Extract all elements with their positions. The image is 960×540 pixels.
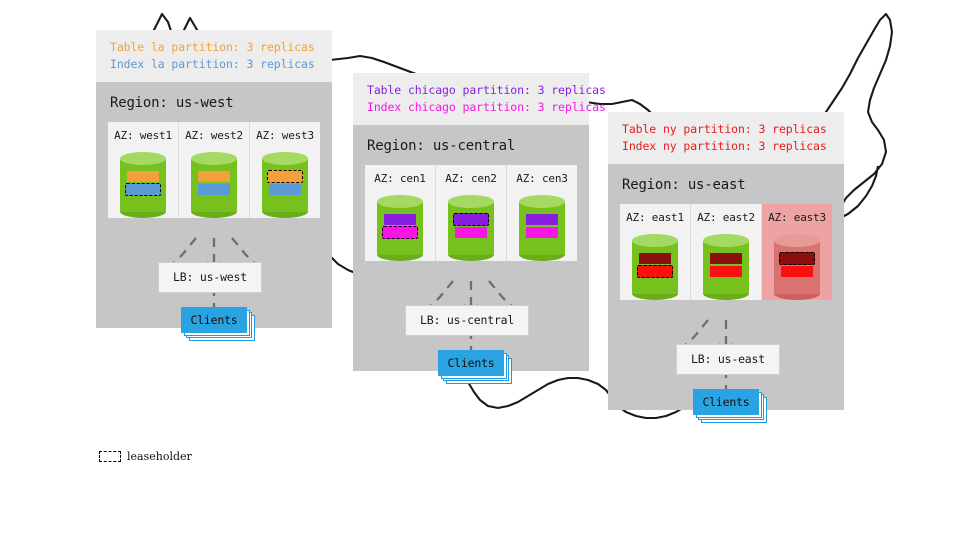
node-cylinder-east1[interactable] (632, 234, 678, 300)
replica-band-index (198, 184, 230, 195)
load-balancer-us-west[interactable]: LB: us-west (158, 262, 262, 293)
az-row-us-central: AZ: cen1 AZ: cen2 (365, 165, 577, 261)
replica-band-table (127, 171, 159, 182)
legend: leaseholder (99, 450, 192, 463)
replica-band-table (198, 171, 230, 182)
region-panel-us-east: Table ny partition: 3 replicas Index ny … (608, 112, 844, 410)
replica-band-index-leaseholder (125, 183, 161, 196)
node-cylinder-west3[interactable] (262, 152, 308, 218)
node-cylinder-cen3[interactable] (519, 195, 565, 261)
replica-band-index-leaseholder (637, 265, 673, 278)
az-cell-west2[interactable]: AZ: west2 (179, 122, 250, 218)
region-title-us-central: Region: us-central (353, 125, 589, 165)
region-panel-us-west: Table la partition: 3 replicas Index la … (96, 30, 332, 328)
load-balancer-us-east[interactable]: LB: us-east (676, 344, 780, 375)
az-row-us-west: AZ: west1 AZ: west2 (108, 122, 320, 218)
partition-line-table: Table ny partition: 3 replicas (622, 121, 832, 138)
lb-label: LB: us-central (420, 313, 514, 327)
clients-label: Clients (693, 389, 759, 415)
node-cylinder-west1[interactable] (120, 152, 166, 218)
region-panel-us-central: Table chicago partition: 3 replicas Inde… (353, 73, 589, 371)
replica-band-table (526, 214, 558, 225)
region-title-us-west: Region: us-west (96, 82, 332, 122)
replica-band-table (384, 214, 416, 225)
az-label-east3: AZ: east3 (762, 211, 832, 224)
clients-label: Clients (438, 350, 504, 376)
az-label-cen2: AZ: cen2 (436, 172, 506, 185)
partition-header-us-west: Table la partition: 3 replicas Index la … (96, 30, 332, 82)
dashed-rect-icon (99, 451, 121, 462)
az-label-west1: AZ: west1 (108, 129, 178, 142)
az-label-east2: AZ: east2 (691, 211, 761, 224)
az-label-west2: AZ: west2 (179, 129, 249, 142)
replica-band-index (455, 227, 487, 238)
replica-band-index (781, 266, 813, 277)
replica-band-table-leaseholder (453, 213, 489, 226)
diagram-canvas: Table la partition: 3 replicas Index la … (0, 0, 960, 540)
az-cell-east1[interactable]: AZ: east1 (620, 204, 691, 300)
node-cylinder-east3-failed[interactable] (774, 234, 820, 300)
replica-band-table-leaseholder (267, 170, 303, 183)
partition-header-us-central: Table chicago partition: 3 replicas Inde… (353, 73, 589, 125)
lb-label: LB: us-east (691, 352, 765, 366)
partition-line-index: Index ny partition: 3 replicas (622, 138, 832, 155)
legend-label: leaseholder (127, 450, 192, 463)
node-cylinder-cen2[interactable] (448, 195, 494, 261)
az-cell-east3[interactable]: AZ: east3 (762, 204, 832, 300)
replica-band-index (710, 266, 742, 277)
replica-band-index-leaseholder (382, 226, 418, 239)
load-balancer-us-central[interactable]: LB: us-central (405, 305, 529, 336)
lb-label: LB: us-west (173, 270, 247, 284)
az-label-east1: AZ: east1 (620, 211, 690, 224)
az-label-west3: AZ: west3 (250, 129, 320, 142)
partition-line-table: Table la partition: 3 replicas (110, 39, 320, 56)
az-label-cen1: AZ: cen1 (365, 172, 435, 185)
partition-line-table: Table chicago partition: 3 replicas (367, 82, 577, 99)
clients-label: Clients (181, 307, 247, 333)
az-cell-west3[interactable]: AZ: west3 (250, 122, 320, 218)
replica-band-index (269, 184, 301, 195)
replica-band-table (639, 253, 671, 264)
clients-node-us-west[interactable]: Clients (181, 307, 255, 341)
region-title-us-east: Region: us-east (608, 164, 844, 204)
partition-line-index: Index la partition: 3 replicas (110, 56, 320, 73)
az-cell-cen1[interactable]: AZ: cen1 (365, 165, 436, 261)
node-cylinder-west2[interactable] (191, 152, 237, 218)
az-label-cen3: AZ: cen3 (507, 172, 577, 185)
az-cell-cen2[interactable]: AZ: cen2 (436, 165, 507, 261)
replica-band-index (526, 227, 558, 238)
partition-line-index: Index chicago partition: 3 replicas (367, 99, 577, 116)
replica-band-table-leaseholder (779, 252, 815, 265)
replica-band-table (710, 253, 742, 264)
clients-node-us-east[interactable]: Clients (693, 389, 767, 423)
partition-header-us-east: Table ny partition: 3 replicas Index ny … (608, 112, 844, 164)
node-cylinder-cen1[interactable] (377, 195, 423, 261)
node-cylinder-east2[interactable] (703, 234, 749, 300)
az-row-us-east: AZ: east1 AZ: east2 (620, 204, 832, 300)
az-cell-cen3[interactable]: AZ: cen3 (507, 165, 577, 261)
clients-node-us-central[interactable]: Clients (438, 350, 512, 384)
az-cell-east2[interactable]: AZ: east2 (691, 204, 762, 300)
az-cell-west1[interactable]: AZ: west1 (108, 122, 179, 218)
